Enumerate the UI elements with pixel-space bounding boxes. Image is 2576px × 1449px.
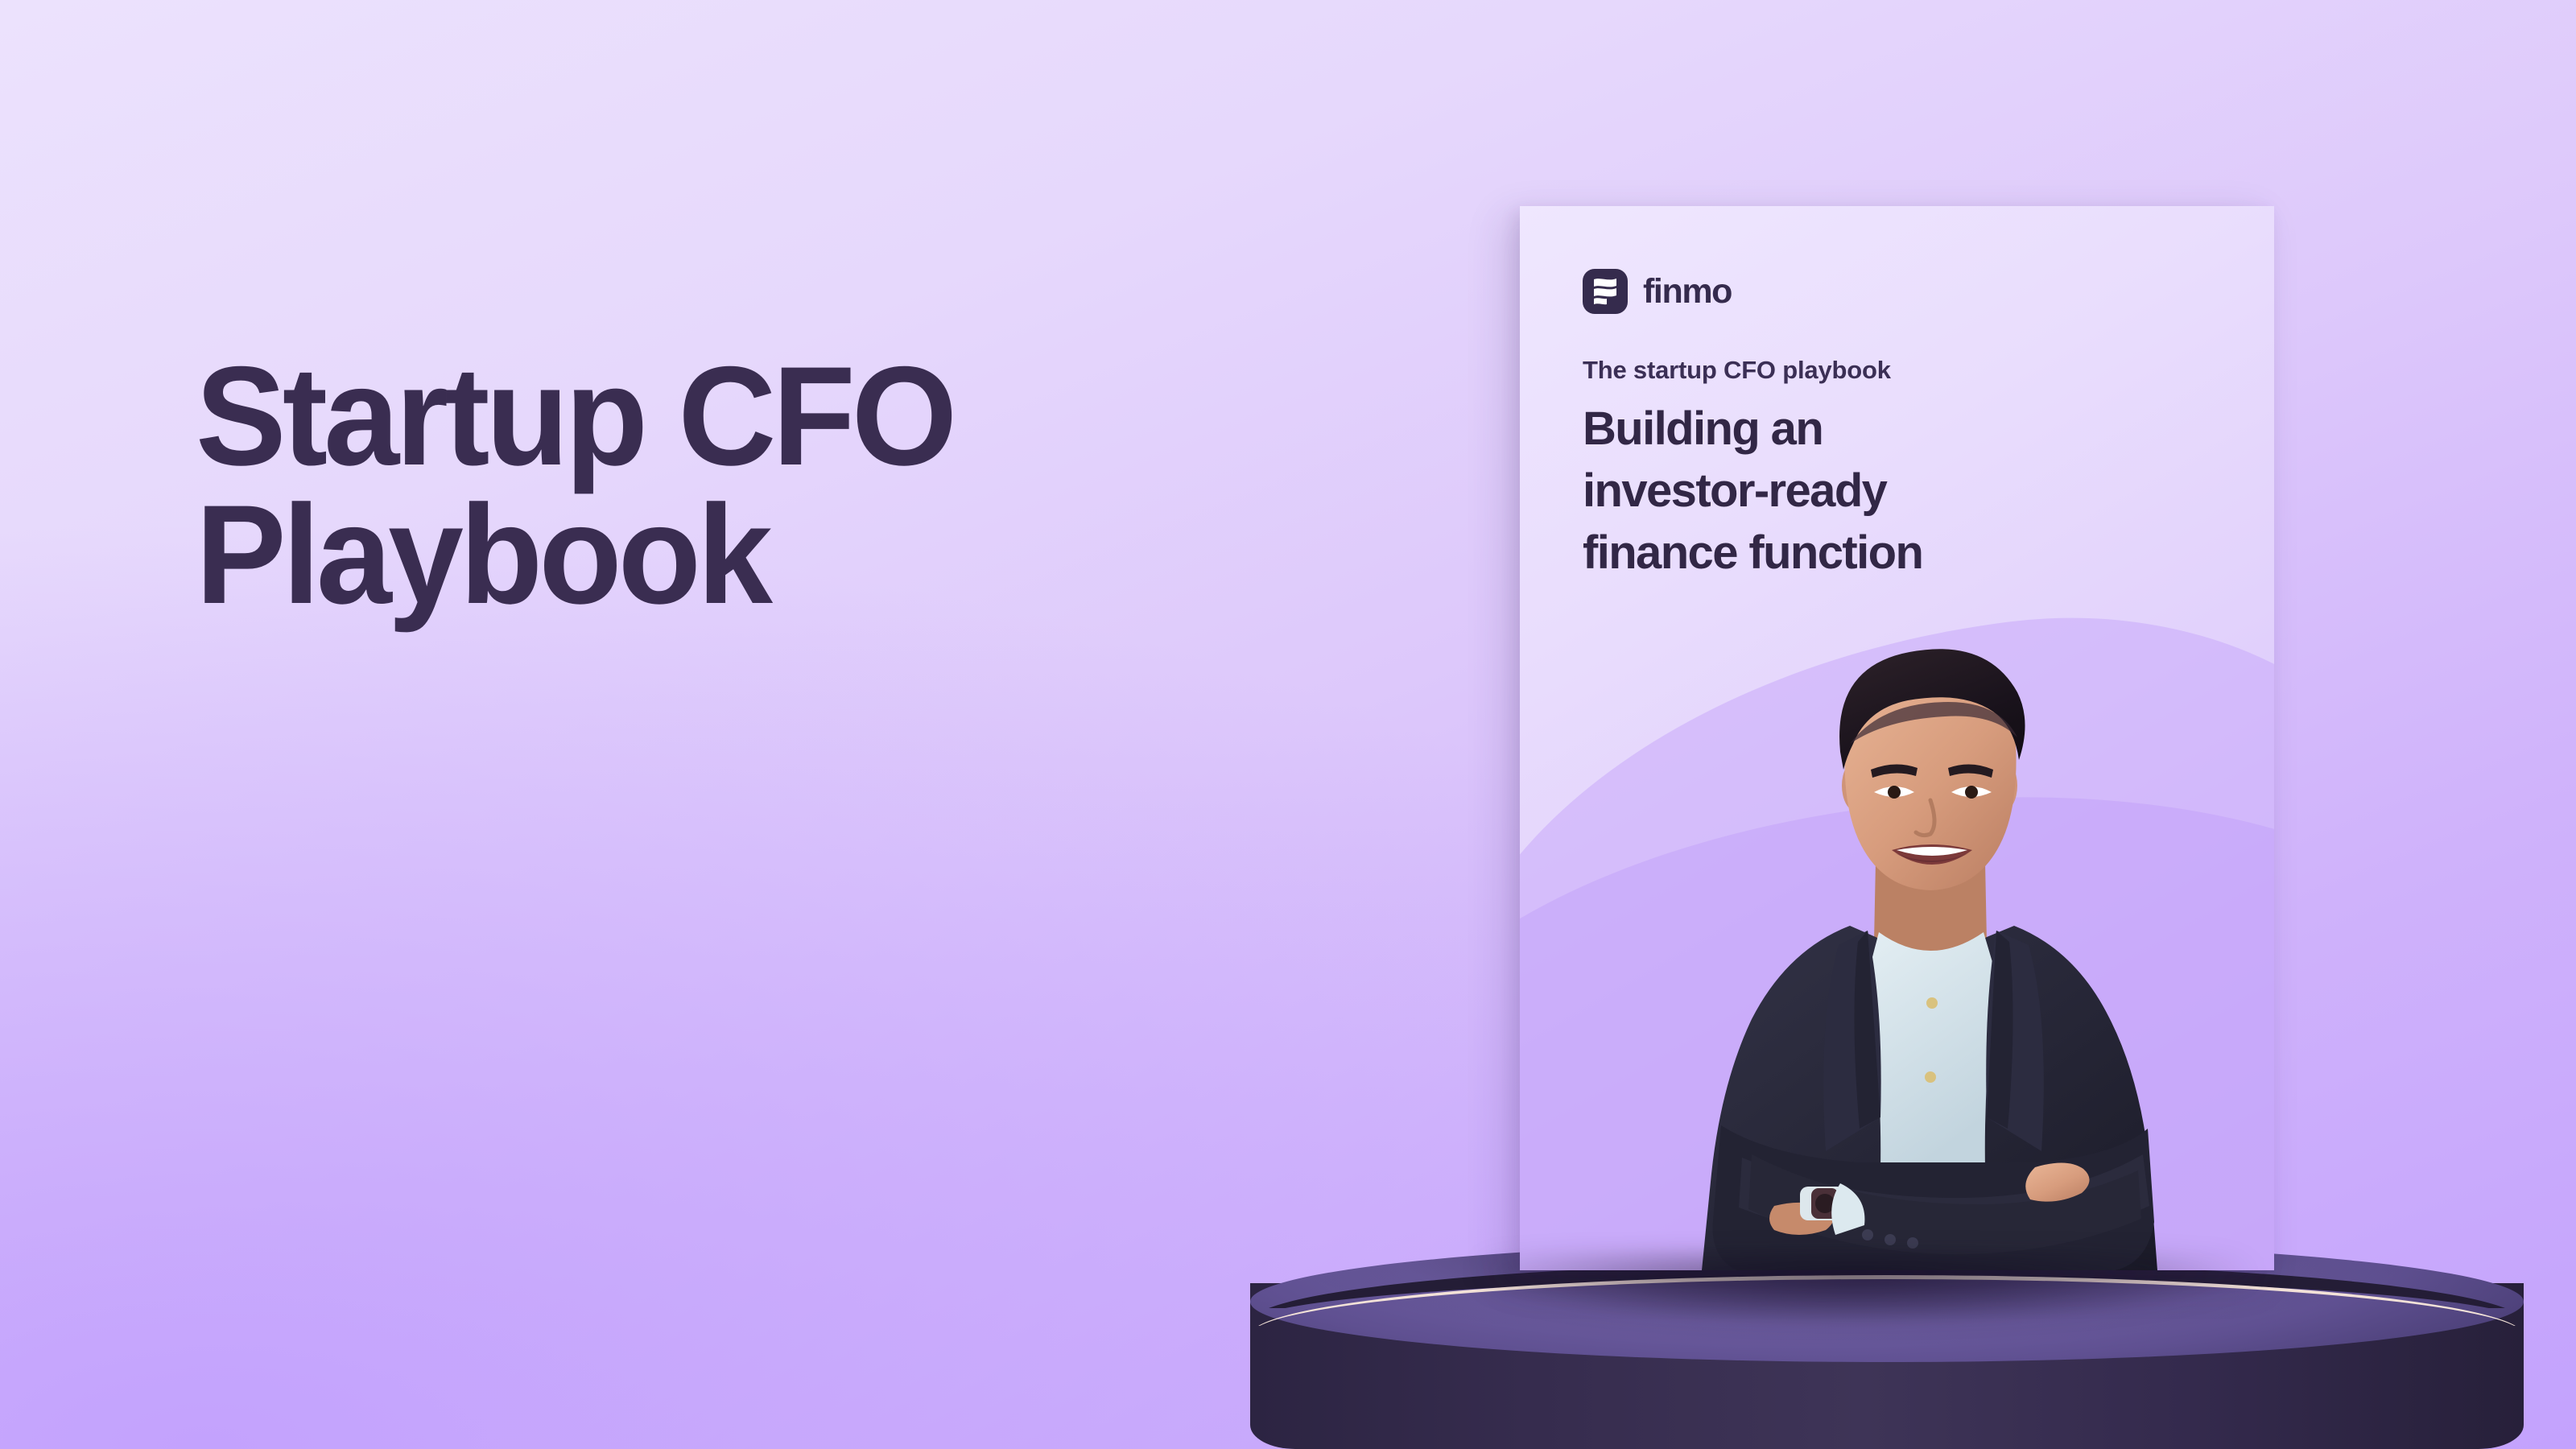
- cover-photo-businessman: [1584, 642, 2274, 1270]
- pedestal-podium: [1250, 1241, 2524, 1449]
- brand-wordmark: finmo: [1643, 272, 1732, 312]
- brand-logo: finmo: [1583, 269, 1732, 314]
- cover-eyebrow: The startup CFO playbook: [1583, 356, 1891, 385]
- finmo-flag-icon: [1583, 269, 1628, 314]
- cover-title: Building an investor-ready finance funct…: [1583, 398, 2211, 584]
- book-cover: finmo The startup CFO playbook Building …: [1520, 206, 2274, 1270]
- page-title: Startup CFO Playbook: [196, 348, 1298, 624]
